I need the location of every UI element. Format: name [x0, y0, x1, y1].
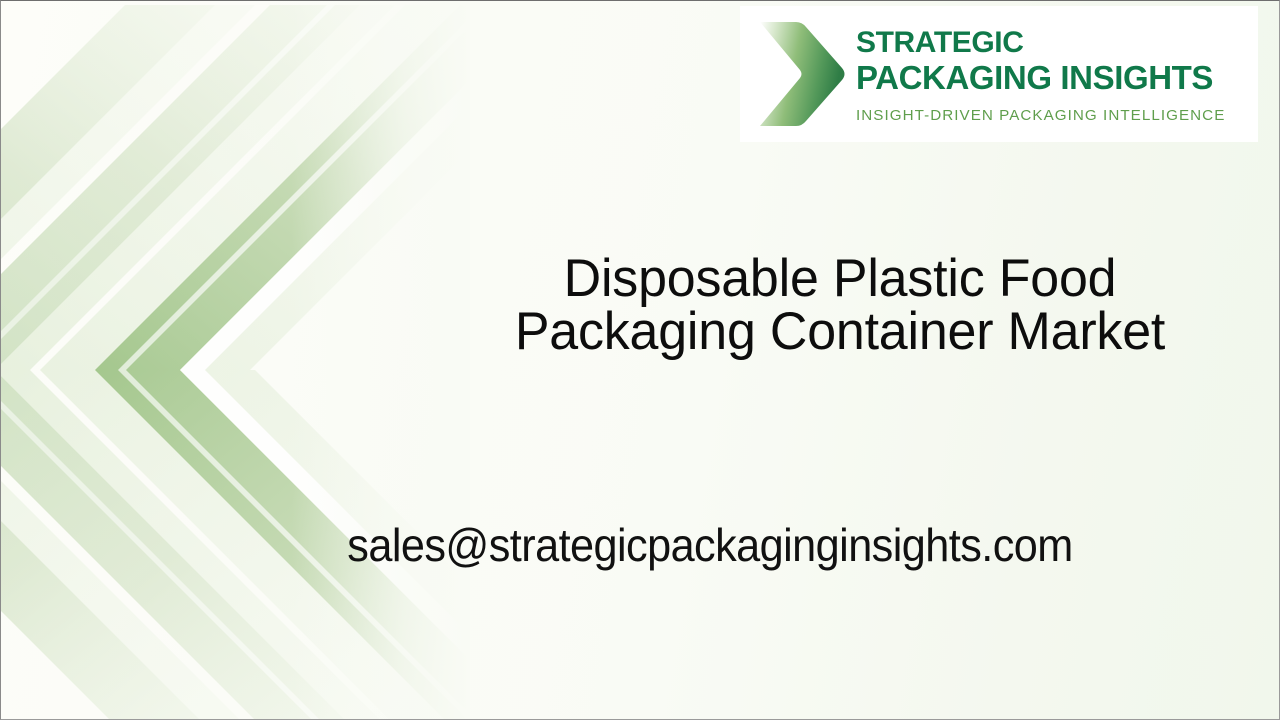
logo-tagline: INSIGHT-DRIVEN PACKAGING INTELLIGENCE: [856, 107, 1258, 124]
chevron-right-icon: [752, 18, 848, 130]
title-slide: STRATEGIC PACKAGING INSIGHTS INSIGHT-DRI…: [0, 0, 1280, 720]
decor-svg: [0, 0, 470, 720]
logo-line-1: STRATEGIC: [856, 28, 1258, 58]
decor-bands: [0, 0, 470, 720]
logo-line-2: PACKAGING INSIGHTS: [856, 61, 1258, 94]
chevron-stripes-graphic: [0, 0, 470, 720]
contact-email: sales@strategicpackaginginsights.com: [231, 520, 1190, 571]
company-logo: STRATEGIC PACKAGING INSIGHTS INSIGHT-DRI…: [740, 6, 1258, 142]
slide-title: Disposable Plastic Food Packaging Contai…: [438, 252, 1242, 358]
chevron-right-mark-icon: [740, 6, 852, 142]
logo-wordmark: STRATEGIC PACKAGING INSIGHTS INSIGHT-DRI…: [852, 6, 1258, 142]
